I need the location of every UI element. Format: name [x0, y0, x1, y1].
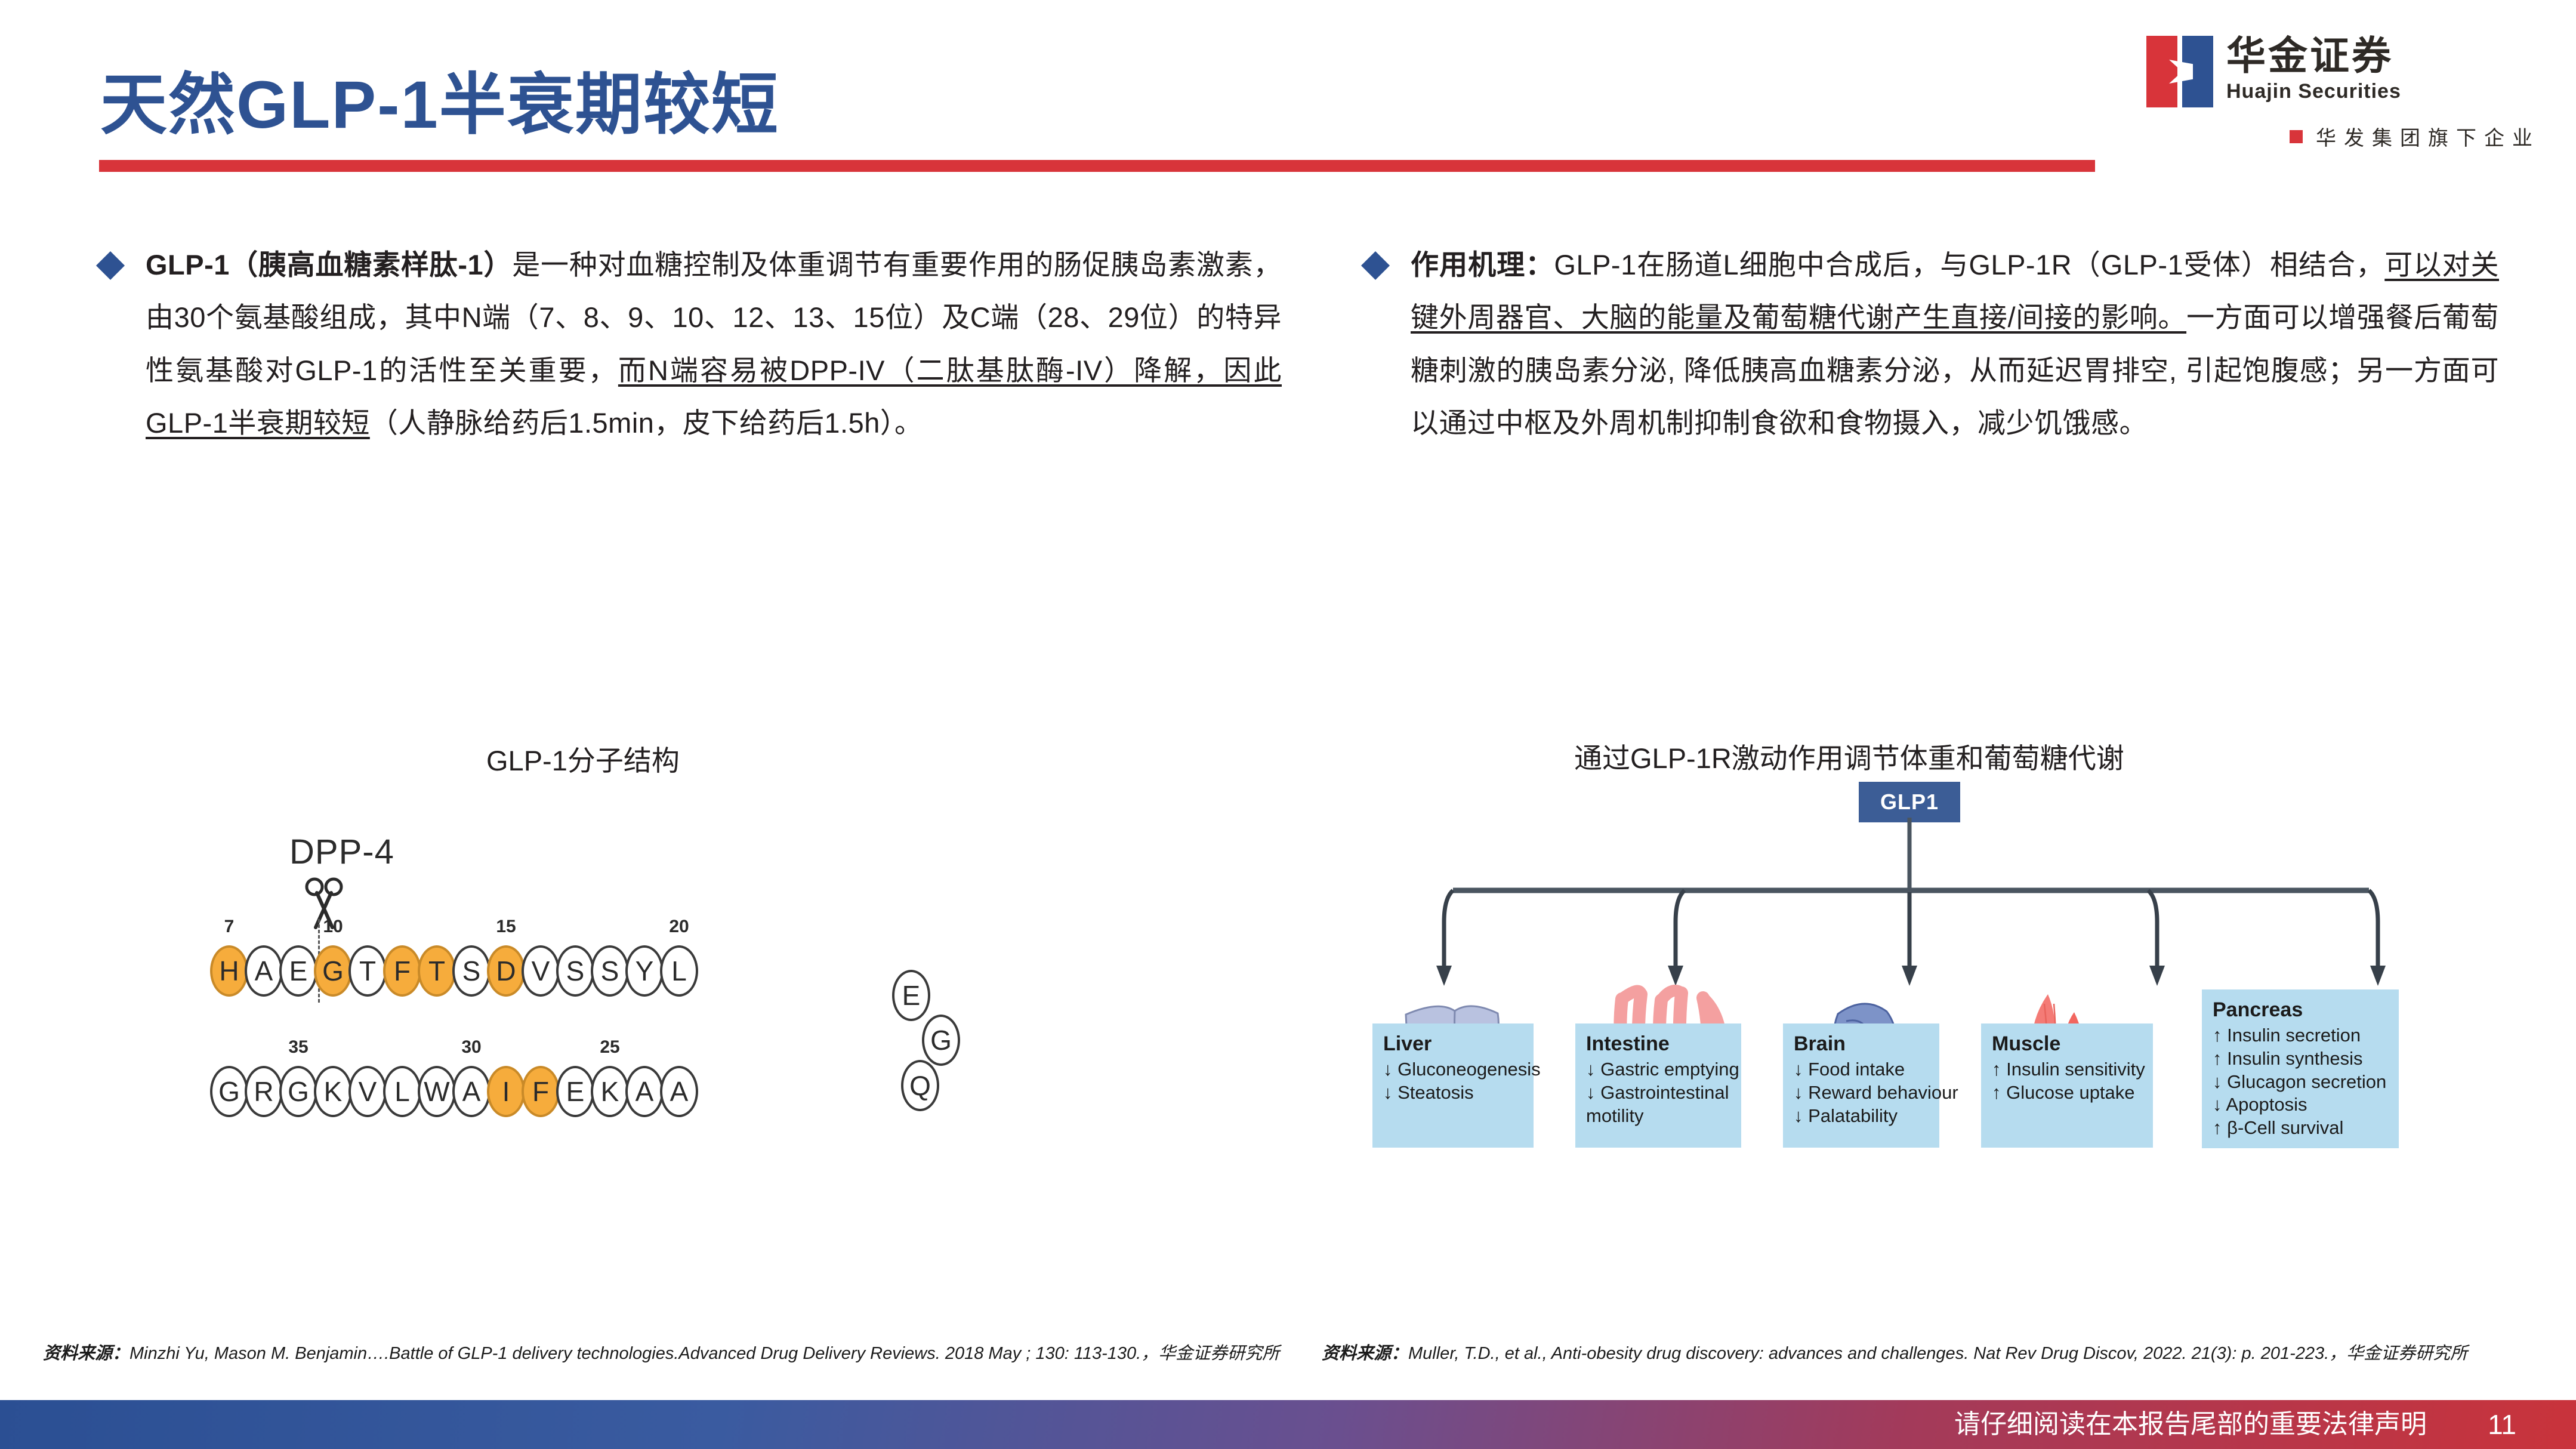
- amino-acid-i: I: [487, 1066, 525, 1117]
- amino-acid-l: L20: [660, 945, 698, 997]
- organ-box-title: Pancreas: [2213, 998, 2388, 1022]
- amino-acid-w: W: [418, 1066, 456, 1117]
- logo-tagline: 华发集团旗下企业: [2316, 122, 2540, 151]
- organ-box-item: ↓ Gastric emptying: [1586, 1058, 1730, 1081]
- organ-box-item: ↑ Insulin secretion: [2213, 1024, 2388, 1047]
- huajin-logo-mark-icon: [2146, 36, 2213, 107]
- amino-acid-y: Y: [625, 945, 664, 997]
- residue-number: 35: [288, 1037, 308, 1058]
- amino-acid-v: V: [348, 1066, 387, 1117]
- organ-box-brain: Brain↓ Food intake↓ Reward behaviour↓ Pa…: [1783, 1023, 1939, 1148]
- amino-acid-e: E: [556, 1066, 594, 1117]
- bullet-text-right: 作用机理：GLP-1在肠道L细胞中合成后，与GLP-1R（GLP-1受体）相结合…: [1411, 239, 2499, 449]
- figure-caption-right: 通过GLP-1R激动作用调节体重和葡萄糖代谢: [1574, 735, 2124, 776]
- source-text-left: Minzhi Yu, Mason M. Benjamin….Battle of …: [129, 1344, 1279, 1363]
- organ-box-item: ↓ Food intake: [1794, 1058, 1929, 1081]
- bullet-part2-left: （人静脉给药后1.5min，皮下给药后1.5h）。: [370, 407, 923, 439]
- bullet-item: 作用机理：GLP-1在肠道L细胞中合成后，与GLP-1R（GLP-1受体）相结合…: [1365, 239, 2499, 449]
- amino-acid-g: G: [210, 1066, 248, 1117]
- footer-bar: 请仔细阅读在本报告尾部的重要法律声明 11: [0, 1400, 2576, 1449]
- amino-acid-k: K: [314, 1066, 352, 1117]
- amino-acid-a: A: [625, 1066, 664, 1117]
- amino-acid-t: T: [418, 945, 456, 997]
- amino-acid-d: D15: [487, 945, 525, 997]
- amino-acid-a: A30: [452, 1066, 490, 1117]
- amino-acid-q: Q: [901, 1060, 939, 1111]
- bullet-column-left: GLP-1（胰高血糖素样肽-1）是一种对血糖控制及体重调节有重要作用的肠促胰岛素…: [100, 239, 1282, 449]
- page-title: 天然GLP-1半衰期较短: [100, 51, 779, 147]
- organ-box-item: ↑ β-Cell survival: [2213, 1117, 2388, 1140]
- amino-acid-e: E: [892, 970, 930, 1021]
- organ-box-item: ↓ Gluconeogenesis: [1383, 1058, 1523, 1081]
- amino-acid-g: G: [922, 1015, 960, 1066]
- figure-caption-left: GLP-1分子结构: [486, 738, 680, 779]
- organ-box-item: ↓ Glucagon secretion: [2213, 1071, 2388, 1094]
- amino-acid-g: G10: [314, 945, 352, 997]
- amino-acid-a: A: [660, 1066, 698, 1117]
- organ-box-item: motility: [1586, 1105, 1730, 1128]
- amino-acid-k: K25: [591, 1066, 629, 1117]
- amino-acid-row-top: H7AEG10TFTSD15VSSYL20: [210, 945, 695, 997]
- footer-page-number: 11: [2488, 1400, 2516, 1449]
- logo-english-name: Huajin Securities: [2226, 81, 2401, 101]
- amino-acid-t: T: [348, 945, 387, 997]
- source-label: 资料来源：: [1322, 1344, 1408, 1363]
- amino-acid-g: G35: [279, 1066, 317, 1117]
- bullet-text-left: GLP-1（胰高血糖素样肽-1）是一种对血糖控制及体重调节有重要作用的肠促胰岛素…: [146, 239, 1282, 449]
- bullet-part1-right: GLP-1在肠道L细胞中合成后，与GLP-1R（GLP-1受体）相结合，: [1554, 249, 2384, 280]
- amino-acid-a: A: [245, 945, 283, 997]
- residue-number: 15: [496, 917, 516, 937]
- organ-box-title: Intestine: [1586, 1032, 1730, 1056]
- amino-acid-h: H7: [210, 945, 248, 997]
- organ-box-muscle: Muscle↑ Insulin sensitivity↑ Glucose upt…: [1981, 1023, 2153, 1148]
- glp1-hub-box: GLP1: [1859, 782, 1960, 822]
- source-text-right: Muller, T.D., et al., Anti-obesity drug …: [1408, 1344, 2467, 1363]
- glp1r-pathway-figure: GLP1: [1355, 782, 2506, 1253]
- organ-box-item: ↑ Glucose uptake: [1992, 1081, 2142, 1105]
- amino-acid-s: S: [591, 945, 629, 997]
- amino-acid-l: L: [383, 1066, 421, 1117]
- amino-acid-s: S: [452, 945, 490, 997]
- source-label: 资料来源：: [43, 1344, 129, 1363]
- footer-disclaimer: 请仔细阅读在本报告尾部的重要法律声明: [1954, 1400, 2427, 1449]
- residue-number: 25: [600, 1037, 619, 1058]
- amino-acid-e: E: [279, 945, 317, 997]
- organ-box-item: ↓ Reward behaviour: [1794, 1081, 1929, 1105]
- source-note-right: 资料来源：Muller, T.D., et al., Anti-obesity …: [1322, 1340, 2569, 1367]
- amino-acid-v: V: [522, 945, 560, 997]
- residue-number: 7: [224, 917, 235, 937]
- organ-box-item: ↑ Insulin synthesis: [2213, 1047, 2388, 1071]
- residue-number: 20: [669, 917, 689, 937]
- residue-number: 10: [323, 917, 343, 937]
- amino-acid-f: F: [522, 1066, 560, 1117]
- bullet-lead-left: GLP-1（胰高血糖素样肽-1）: [146, 249, 512, 280]
- amino-acid-f: F: [383, 945, 421, 997]
- bullet-item: GLP-1（胰高血糖素样肽-1）是一种对血糖控制及体重调节有重要作用的肠促胰岛素…: [100, 239, 1282, 449]
- organ-box-item: ↓ Apoptosis: [2213, 1093, 2388, 1117]
- organ-box-liver: Liver↓ Gluconeogenesis↓ Steatosis: [1372, 1023, 1534, 1148]
- logo-tag-square-icon: [2290, 130, 2303, 143]
- company-logo: 华金证券 Huajin Securities 华发集团旗下企业: [2146, 36, 2540, 151]
- dpp4-enzyme-label: DPP-4: [289, 832, 394, 872]
- organ-box-intestine: Intestine↓ Gastric emptying↓ Gastrointes…: [1575, 1023, 1741, 1148]
- organ-box-item: ↓ Palatability: [1794, 1105, 1929, 1128]
- amino-acid-row-bottom: GRG35KVLWA30IFEK25AA: [210, 1066, 695, 1117]
- organ-box-title: Brain: [1794, 1032, 1929, 1056]
- organ-box-item: ↓ Gastrointestinal: [1586, 1081, 1730, 1105]
- organ-box-title: Liver: [1383, 1032, 1523, 1056]
- bullet-diamond-icon: [1361, 251, 1390, 280]
- bullet-column-right: 作用机理：GLP-1在肠道L细胞中合成后，与GLP-1R（GLP-1受体）相结合…: [1365, 239, 2499, 449]
- logo-chinese-name: 华金证券: [2226, 36, 2401, 75]
- title-underline-rule: [99, 160, 2095, 172]
- bullet-diamond-icon: [96, 251, 125, 280]
- residue-number: 30: [461, 1037, 481, 1058]
- organ-box-item: ↑ Insulin sensitivity: [1992, 1058, 2142, 1081]
- bullet-lead-right: 作用机理：: [1411, 249, 1554, 280]
- amino-acid-s: S: [556, 945, 594, 997]
- glp1-molecular-structure-figure: DPP-4 H7AEG10TFTSD15VSSYL20 GRG35KVLWA30…: [197, 818, 1128, 1247]
- organ-box-pancreas: Pancreas↑ Insulin secretion↑ Insulin syn…: [2202, 989, 2399, 1148]
- amino-acid-r: R: [245, 1066, 283, 1117]
- organ-box-item: ↓ Steatosis: [1383, 1081, 1523, 1105]
- source-note-left: 资料来源：Minzhi Yu, Mason M. Benjamin….Battl…: [43, 1340, 1284, 1367]
- organ-box-title: Muscle: [1992, 1032, 2142, 1056]
- pathway-arrows: [1355, 818, 2506, 1009]
